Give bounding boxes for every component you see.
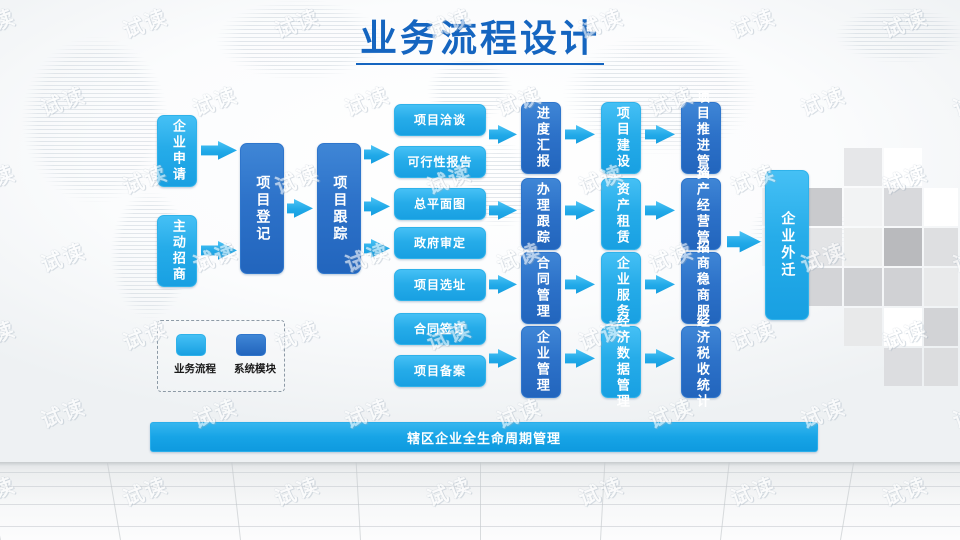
flow-arrow bbox=[489, 274, 517, 295]
flow-node-label: 可行性报告 bbox=[407, 156, 472, 169]
flow-arrow bbox=[645, 348, 675, 369]
flow-node-label: 企业申请 bbox=[170, 119, 184, 183]
flow-node-label: 项目登记 bbox=[255, 175, 270, 243]
flow-node-modules-a-4[interactable]: 企业管理 bbox=[521, 326, 561, 398]
flow-node-label: 合同管理 bbox=[534, 256, 548, 320]
flow-arrow bbox=[364, 144, 390, 165]
flow-arrow bbox=[565, 124, 595, 145]
flow-node-label: 项目跟踪 bbox=[332, 175, 347, 243]
flow-node-tracking-1[interactable]: 项目跟踪 bbox=[317, 143, 361, 274]
flow-arrow bbox=[565, 348, 595, 369]
flow-node-label: 企业外迁 bbox=[780, 211, 795, 279]
flow-node-process-steps-6[interactable]: 合同签订 bbox=[394, 313, 486, 345]
flow-arrow bbox=[489, 200, 517, 221]
flow-arrow bbox=[489, 348, 517, 369]
flow-node-label: 总平面图 bbox=[414, 198, 466, 211]
flow-node-modules-b-1[interactable]: 项目推进管理 bbox=[681, 102, 721, 174]
flow-node-modules-a-2[interactable]: 办理跟踪 bbox=[521, 178, 561, 250]
page-title: 业务流程设计 bbox=[0, 8, 960, 62]
page-title-text: 业务流程设计 bbox=[356, 16, 604, 65]
flow-arrow bbox=[645, 274, 675, 295]
flow-node-process-steps-2[interactable]: 可行性报告 bbox=[394, 146, 486, 178]
flow-node-inputs-2[interactable]: 主动招商 bbox=[157, 215, 197, 287]
footer-label: 辖区企业全生命周期管理 bbox=[407, 428, 561, 447]
flow-arrow bbox=[645, 124, 675, 145]
flow-node-output-1[interactable]: 企业外迁 bbox=[765, 170, 809, 320]
flow-node-modules-a-1[interactable]: 进度汇报 bbox=[521, 102, 561, 174]
flow-node-inputs-1[interactable]: 企业申请 bbox=[157, 115, 197, 187]
flow-node-process-steps-3[interactable]: 总平面图 bbox=[394, 188, 486, 220]
flow-node-modules-b-4[interactable]: 经济税收统计 bbox=[681, 326, 721, 398]
flow-node-process-steps-1[interactable]: 项目洽谈 bbox=[394, 104, 486, 136]
flow-node-label: 经济数据管理 bbox=[614, 314, 628, 410]
flow-node-label: 企业服务 bbox=[614, 256, 628, 320]
flow-node-operations-4[interactable]: 经济数据管理 bbox=[601, 326, 641, 398]
flow-node-process-steps-7[interactable]: 项目备案 bbox=[394, 355, 486, 387]
flow-node-label: 项目选址 bbox=[414, 279, 466, 292]
flow-node-label: 政府审定 bbox=[414, 237, 466, 250]
flow-arrow bbox=[201, 140, 237, 161]
flow-arrow bbox=[364, 196, 390, 217]
flow-arrow bbox=[645, 200, 675, 221]
flow-node-label: 主动招商 bbox=[170, 219, 184, 283]
flow-node-label: 项目建设 bbox=[614, 106, 628, 170]
flow-node-operations-2[interactable]: 资产租赁 bbox=[601, 178, 641, 250]
flow-node-label: 资产租赁 bbox=[614, 182, 628, 246]
flow-node-registration-1[interactable]: 项目登记 bbox=[240, 143, 284, 274]
flow-node-label: 办理跟踪 bbox=[534, 182, 548, 246]
flow-arrow bbox=[489, 124, 517, 145]
slide-canvas: 业务流程设计 企业申请主动招商项目登记项目跟踪项目洽谈可行性报告总平面图政府审定… bbox=[0, 0, 960, 540]
flow-node-label: 企业管理 bbox=[534, 330, 548, 394]
flow-node-operations-1[interactable]: 项目建设 bbox=[601, 102, 641, 174]
flow-node-process-steps-5[interactable]: 项目选址 bbox=[394, 269, 486, 301]
flow-arrow bbox=[201, 240, 237, 261]
flow-node-process-steps-4[interactable]: 政府审定 bbox=[394, 227, 486, 259]
flow-node-label: 合同签订 bbox=[414, 323, 466, 336]
flow-arrow bbox=[565, 200, 595, 221]
flow-node-label: 进度汇报 bbox=[534, 106, 548, 170]
flow-arrow bbox=[364, 238, 390, 259]
flow-arrow bbox=[727, 230, 761, 253]
footer-bar: 辖区企业全生命周期管理 bbox=[150, 422, 818, 452]
flow-node-label: 项目备案 bbox=[414, 365, 466, 378]
flow-node-label: 经济税收统计 bbox=[694, 314, 708, 410]
flow-node-modules-a-3[interactable]: 合同管理 bbox=[521, 252, 561, 324]
flow-diagram: 企业申请主动招商项目登记项目跟踪项目洽谈可行性报告总平面图政府审定项目选址合同签… bbox=[0, 0, 960, 540]
flow-node-label: 项目洽谈 bbox=[414, 114, 466, 127]
flow-arrow bbox=[287, 198, 313, 219]
flow-arrow bbox=[565, 274, 595, 295]
